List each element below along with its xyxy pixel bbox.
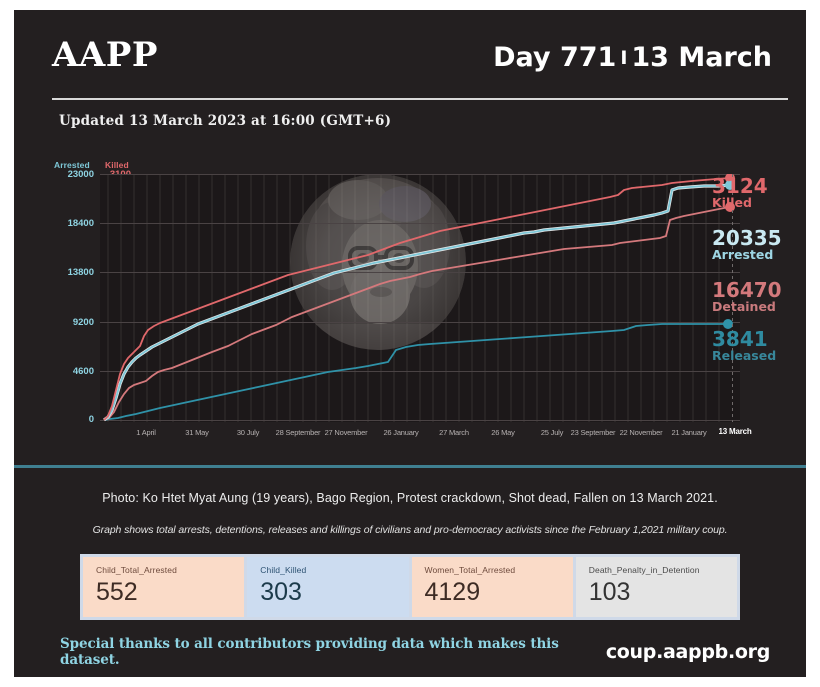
day-date-title: Day 771I13 March: [493, 42, 772, 73]
callout-arrested: 20335 Arrested: [712, 229, 782, 261]
plot-area: [100, 174, 740, 422]
callout-released-label: Released: [712, 349, 776, 362]
brand-title: AAPP: [52, 35, 158, 75]
infographic-card: AAPP Day 771I13 March Updated 13 March 2…: [14, 10, 806, 677]
stat-key: Child_Killed: [260, 565, 408, 575]
photo-caption: Photo: Ko Htet Myat Aung (19 years), Bag…: [14, 491, 806, 505]
site-url[interactable]: coup.aappb.org: [606, 641, 770, 663]
callout-released: 3841 Released: [712, 330, 776, 362]
left-ytick-0: 0: [50, 414, 94, 425]
footer: Special thanks to all contributors provi…: [60, 636, 770, 668]
callout-arrested-label: Arrested: [712, 248, 782, 261]
date-label: 13 March: [631, 42, 772, 73]
xtick-1-april: 1 April: [123, 428, 169, 437]
left-ytick-18400: 18400: [50, 218, 94, 229]
callout-killed-value: 3124: [712, 177, 768, 196]
thanks-text: Special thanks to all contributors provi…: [60, 636, 606, 668]
stat-card-women-total-arrested[interactable]: Women_Total_Arrested 4129: [412, 557, 573, 617]
left-ytick-9200: 9200: [50, 317, 94, 328]
graph-note: Graph shows total arrests, detentions, r…: [14, 524, 806, 536]
stat-card-child-total-arrested[interactable]: Child_Total_Arrested 552: [83, 557, 244, 617]
day-count-label: Day 771: [493, 42, 616, 73]
stat-key: Death_Penalty_in_Detention: [589, 565, 737, 575]
callout-detained: 16470 Detained: [712, 281, 782, 313]
stat-cards: Child_Total_Arrested 552 Child_Killed 30…: [80, 554, 740, 620]
xtick-27-march: 27 March: [429, 428, 479, 437]
xtick-27-november: 27 November: [313, 428, 379, 437]
xtick-26-may: 26 May: [480, 428, 526, 437]
callout-killed: 3124 Killed: [712, 177, 768, 209]
callout-detained-label: Detained: [712, 300, 782, 313]
header: AAPP Day 771I13 March: [52, 35, 772, 93]
stat-key: Women_Total_Arrested: [425, 565, 573, 575]
updated-timestamp: Updated 13 March 2023 at 16:00 (GMT+6): [59, 113, 391, 129]
stat-card-child-killed[interactable]: Child_Killed 303: [247, 557, 408, 617]
page-root: AAPP Day 771I13 March Updated 13 March 2…: [0, 0, 820, 687]
callout-released-value: 3841: [712, 330, 776, 349]
header-divider: [52, 98, 788, 100]
callout-arrested-value: 20335: [712, 229, 782, 248]
xtick-26-january: 26 January: [374, 428, 428, 437]
chart-svg: [100, 174, 740, 422]
callout-detained-value: 16470: [712, 281, 782, 300]
stat-key: Child_Total_Arrested: [96, 565, 244, 575]
title-separator: I: [616, 47, 631, 69]
stat-value: 4129: [425, 578, 573, 606]
stat-value: 552: [96, 578, 244, 606]
left-ytick-23000: 23000: [50, 169, 94, 180]
stat-card-death-penalty-in-detention[interactable]: Death_Penalty_in_Detention 103: [576, 557, 737, 617]
section-divider: [14, 465, 806, 468]
stat-value: 303: [260, 578, 408, 606]
stat-value: 103: [589, 578, 737, 606]
xtick-31-may: 31 May: [174, 428, 220, 437]
chart: Arrested Killed 23000 18400 13800 9200 4…: [48, 150, 788, 450]
xtick-13-march: 13 March: [708, 427, 762, 436]
left-ytick-4600: 4600: [50, 366, 94, 377]
left-ytick-13800: 13800: [50, 267, 94, 278]
